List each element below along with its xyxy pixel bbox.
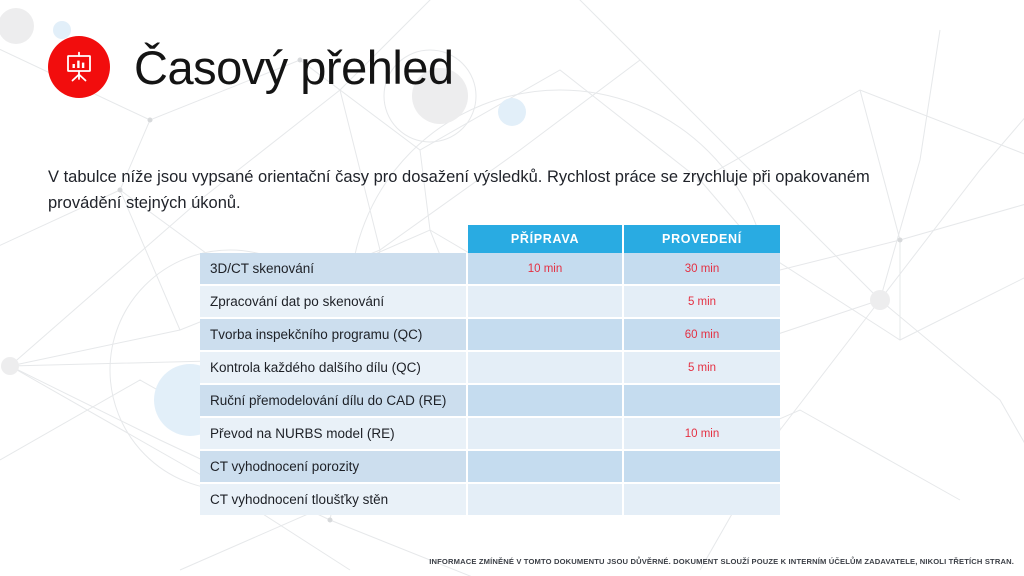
column-header-priprava: PŘÍPRAVA <box>468 225 624 253</box>
table-row: Zpracování dat po skenování 5 min <box>200 286 780 319</box>
cell-provedeni: 60 min <box>624 319 780 352</box>
cell-provedeni: 30 min <box>624 253 780 286</box>
column-header-task <box>200 225 468 253</box>
cell-provedeni: 5 min <box>624 286 780 319</box>
table-header-row: PŘÍPRAVA PROVEDENÍ <box>200 225 780 253</box>
cell-priprava <box>468 418 624 451</box>
table-row: Tvorba inspekčního programu (QC) 60 min <box>200 319 780 352</box>
cell-priprava <box>468 319 624 352</box>
table-row: CT vyhodnocení tloušťky stěn <box>200 484 780 515</box>
cell-priprava: 10 min <box>468 253 624 286</box>
cell-provedeni: 5 min <box>624 352 780 385</box>
cell-task-label: Tvorba inspekčního programu (QC) <box>200 319 468 352</box>
intro-paragraph: V tabulce níže jsou vypsané orientační č… <box>48 164 888 216</box>
table-row: Kontrola každého dalšího dílu (QC) 5 min <box>200 352 780 385</box>
timing-overview-table: PŘÍPRAVA PROVEDENÍ 3D/CT skenování 10 mi… <box>200 225 780 515</box>
cell-provedeni: 10 min <box>624 418 780 451</box>
table-body: 3D/CT skenování 10 min 30 min Zpracování… <box>200 253 780 515</box>
cell-task-label: CT vyhodnocení porozity <box>200 451 468 484</box>
presentation-chart-icon <box>48 36 110 98</box>
cell-task-label: Zpracování dat po skenování <box>200 286 468 319</box>
cell-priprava <box>468 484 624 515</box>
table-row: Ruční přemodelování dílu do CAD (RE) <box>200 385 780 418</box>
page-title: Časový přehled <box>134 44 454 91</box>
confidentiality-footer: INFORMACE ZMÍNĚNÉ V TOMTO DOKUMENTU JSOU… <box>429 557 1014 566</box>
table-header: PŘÍPRAVA PROVEDENÍ <box>200 225 780 253</box>
table-row: CT vyhodnocení porozity <box>200 451 780 484</box>
cell-provedeni <box>624 451 780 484</box>
cell-task-label: Převod na NURBS model (RE) <box>200 418 468 451</box>
cell-task-label: CT vyhodnocení tloušťky stěn <box>200 484 468 515</box>
cell-provedeni <box>624 484 780 515</box>
cell-provedeni <box>624 385 780 418</box>
slide-canvas: Časový přehled V tabulce níže jsou vypsa… <box>0 0 1024 576</box>
table-row: Převod na NURBS model (RE) 10 min <box>200 418 780 451</box>
cell-priprava <box>468 451 624 484</box>
column-header-provedeni: PROVEDENÍ <box>624 225 780 253</box>
slide-header: Časový přehled <box>48 34 454 100</box>
cell-task-label: Kontrola každého dalšího dílu (QC) <box>200 352 468 385</box>
cell-task-label: 3D/CT skenování <box>200 253 468 286</box>
cell-task-label: Ruční přemodelování dílu do CAD (RE) <box>200 385 468 418</box>
table-row: 3D/CT skenování 10 min 30 min <box>200 253 780 286</box>
cell-priprava <box>468 286 624 319</box>
cell-priprava <box>468 385 624 418</box>
cell-priprava <box>468 352 624 385</box>
